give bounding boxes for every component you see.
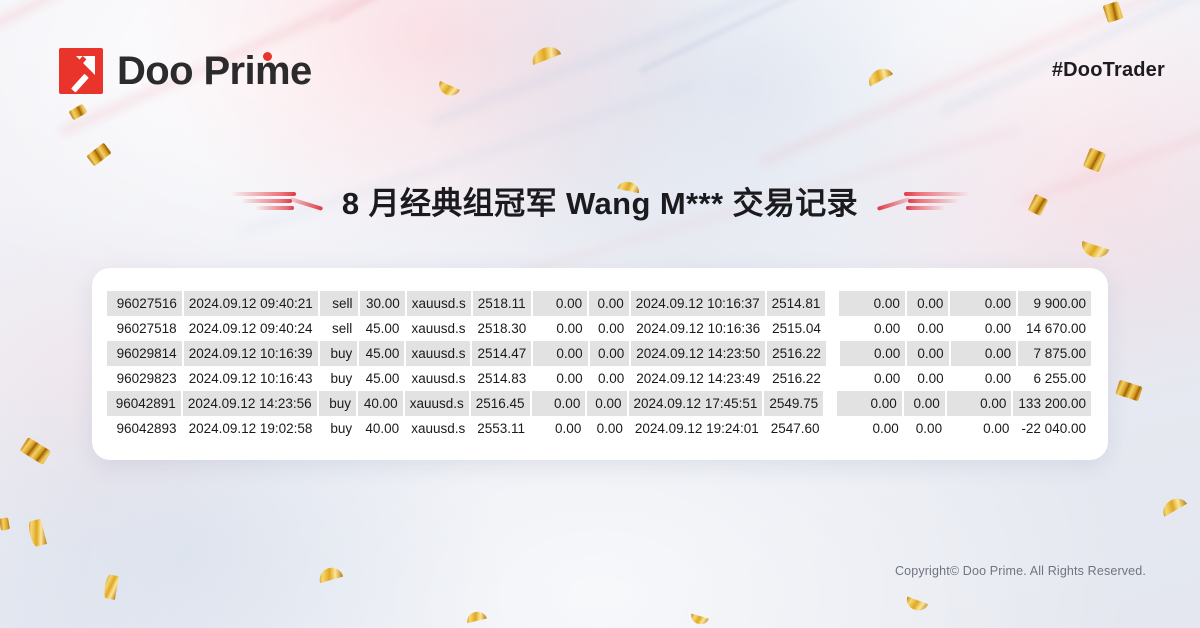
ornament-bar	[908, 199, 958, 203]
background-streak	[939, 0, 1200, 115]
cell-close-price: 2516.22	[767, 341, 826, 366]
cell-sl: 0.00	[532, 416, 586, 441]
cell-tp: 0.00	[589, 291, 629, 316]
cell-swap: 0.00	[951, 366, 1016, 391]
cell-ticket: 96027516	[107, 291, 182, 316]
cell-open-price: 2518.11	[473, 291, 531, 316]
cell-size: 45.00	[359, 316, 404, 341]
cell-open-time: 2024.09.12 09:40:21	[184, 291, 318, 316]
cell-open-price: 2514.47	[472, 341, 531, 366]
ornament-bar	[256, 206, 294, 210]
cell-close-price: 2514.81	[767, 291, 826, 316]
cell-ticket: 96029814	[107, 341, 182, 366]
cell-spacer	[828, 341, 840, 366]
cell-size: 30.00	[360, 291, 405, 316]
cell-symbol: xauusd.s	[405, 391, 469, 416]
cell-close-time: 2024.09.12 17:45:51	[629, 391, 763, 416]
cell-open-time: 2024.09.12 10:16:43	[184, 366, 318, 391]
cell-tp: 0.00	[590, 316, 630, 341]
cell-commission: 0.00	[840, 341, 905, 366]
cell-tp: 0.00	[587, 391, 626, 416]
doo-prime-logo-icon	[59, 48, 103, 94]
page-title: 8 月经典组冠军 Wang M*** 交易记录	[342, 178, 858, 223]
cell-type: buy	[319, 416, 357, 441]
cell-profit: -22 040.00	[1016, 416, 1091, 441]
cell-sl: 0.00	[533, 291, 587, 316]
cell-size: 45.00	[359, 341, 404, 366]
cell-ticket: 96042891	[107, 391, 181, 416]
cell-close-time: 2024.09.12 10:16:37	[631, 291, 765, 316]
logo-wordmark-text: Doo Prime	[117, 49, 312, 93]
cell-close-price: 2515.04	[767, 316, 826, 341]
cell-tp: 0.00	[590, 366, 630, 391]
title-row: 8 月经典组冠军 Wang M*** 交易记录	[0, 178, 1200, 223]
background-streak	[0, 0, 424, 45]
cell-symbol: xauusd.s	[406, 316, 470, 341]
cell-tp: 0.00	[588, 416, 628, 441]
promo-banner: Doo Prime #DooTrader 8 月经典组冠军 Wang M*** …	[0, 0, 1200, 628]
cell-taxes: 0.00	[907, 366, 948, 391]
cell-spacer	[828, 316, 840, 341]
cell-close-time: 2024.09.12 19:24:01	[630, 416, 764, 441]
cell-profit: 14 670.00	[1018, 316, 1091, 341]
ornament-left-icon	[232, 188, 320, 214]
table-row: 960428932024.09.12 19:02:58buy40.00xauus…	[107, 416, 1093, 441]
trade-history-table: 960275162024.09.12 09:40:21sell30.00xauu…	[107, 291, 1093, 441]
cell-sl: 0.00	[532, 391, 586, 416]
copyright-text: Copyright© Doo Prime. All Rights Reserve…	[895, 564, 1146, 578]
cell-commission: 0.00	[838, 416, 903, 441]
cell-profit: 9 900.00	[1018, 291, 1091, 316]
table-row: 960298142024.09.12 10:16:39buy45.00xauus…	[107, 341, 1093, 366]
cell-commission: 0.00	[839, 291, 905, 316]
cell-symbol: xauusd.s	[407, 291, 471, 316]
cell-open-time: 2024.09.12 19:02:58	[184, 416, 318, 441]
cell-close-price: 2549.75	[764, 391, 823, 416]
cell-size: 45.00	[359, 366, 404, 391]
cell-spacer	[827, 291, 839, 316]
cell-sl: 0.00	[533, 316, 587, 341]
cell-taxes: 0.00	[904, 391, 945, 416]
cell-ticket: 96042893	[107, 416, 182, 441]
cell-open-price: 2514.83	[472, 366, 531, 391]
cell-open-price: 2518.30	[472, 316, 531, 341]
cell-sl: 0.00	[533, 341, 587, 366]
cell-size: 40.00	[358, 391, 403, 416]
background-streak	[639, 0, 1108, 73]
cell-swap: 0.00	[951, 341, 1016, 366]
campaign-hashtag: #DooTrader	[1052, 59, 1165, 82]
cell-profit: 6 255.00	[1018, 366, 1091, 391]
cell-commission: 0.00	[837, 391, 902, 416]
ornament-bar	[904, 192, 968, 196]
cell-symbol: xauusd.s	[406, 416, 470, 441]
ornament-right-icon	[880, 188, 968, 214]
cell-open-time: 2024.09.12 09:40:24	[184, 316, 318, 341]
table-row: 960275162024.09.12 09:40:21sell30.00xauu…	[107, 291, 1093, 316]
cell-open-time: 2024.09.12 14:23:56	[183, 391, 317, 416]
cell-commission: 0.00	[840, 316, 905, 341]
table-row: 960298232024.09.12 10:16:43buy45.00xauus…	[107, 366, 1093, 391]
cell-type: sell	[320, 316, 358, 341]
cell-profit: 133 200.00	[1013, 391, 1091, 416]
cell-sl: 0.00	[533, 366, 587, 391]
cell-swap: 0.00	[950, 291, 1016, 316]
ornament-bar	[232, 192, 296, 196]
cell-profit: 7 875.00	[1018, 341, 1091, 366]
table-row: 960275182024.09.12 09:40:24sell45.00xauu…	[107, 316, 1093, 341]
cell-size: 40.00	[359, 416, 404, 441]
cell-ticket: 96027518	[107, 316, 182, 341]
ornament-bar	[906, 206, 944, 210]
logo-i-dot-icon	[263, 52, 272, 61]
cell-swap: 0.00	[949, 416, 1014, 441]
doo-prime-logo: Doo Prime	[59, 48, 312, 94]
cell-close-price: 2547.60	[766, 416, 825, 441]
cell-open-price: 2516.45	[471, 391, 530, 416]
table-row: 960428912024.09.12 14:23:56buy40.00xauus…	[107, 391, 1093, 416]
cell-swap: 0.00	[947, 391, 1012, 416]
logo-wordmark: Doo Prime	[117, 49, 312, 94]
cell-type: buy	[319, 391, 356, 416]
cell-symbol: xauusd.s	[406, 341, 470, 366]
cell-type: buy	[320, 341, 358, 366]
cell-spacer	[828, 366, 840, 391]
cell-commission: 0.00	[840, 366, 905, 391]
cell-close-time: 2024.09.12 10:16:36	[631, 316, 765, 341]
cell-open-price: 2553.11	[472, 416, 530, 441]
cell-taxes: 0.00	[907, 316, 948, 341]
cell-ticket: 96029823	[107, 366, 182, 391]
cell-close-price: 2516.22	[767, 366, 826, 391]
ornament-bar	[242, 199, 292, 203]
cell-taxes: 0.00	[907, 341, 948, 366]
background-streak	[429, 0, 860, 125]
cell-taxes: 0.00	[907, 291, 949, 316]
cell-type: sell	[320, 291, 358, 316]
cell-swap: 0.00	[951, 316, 1016, 341]
cell-tp: 0.00	[590, 341, 630, 366]
trade-history-card: 960275162024.09.12 09:40:21sell30.00xauu…	[92, 268, 1108, 460]
cell-taxes: 0.00	[906, 416, 947, 441]
cell-open-time: 2024.09.12 10:16:39	[184, 341, 318, 366]
cell-spacer	[827, 416, 839, 441]
cell-close-time: 2024.09.12 14:23:50	[631, 341, 765, 366]
cell-type: buy	[320, 366, 358, 391]
cell-spacer	[825, 391, 837, 416]
cell-symbol: xauusd.s	[406, 366, 470, 391]
ornament-tail	[289, 197, 323, 211]
cell-close-time: 2024.09.12 14:23:49	[631, 366, 765, 391]
